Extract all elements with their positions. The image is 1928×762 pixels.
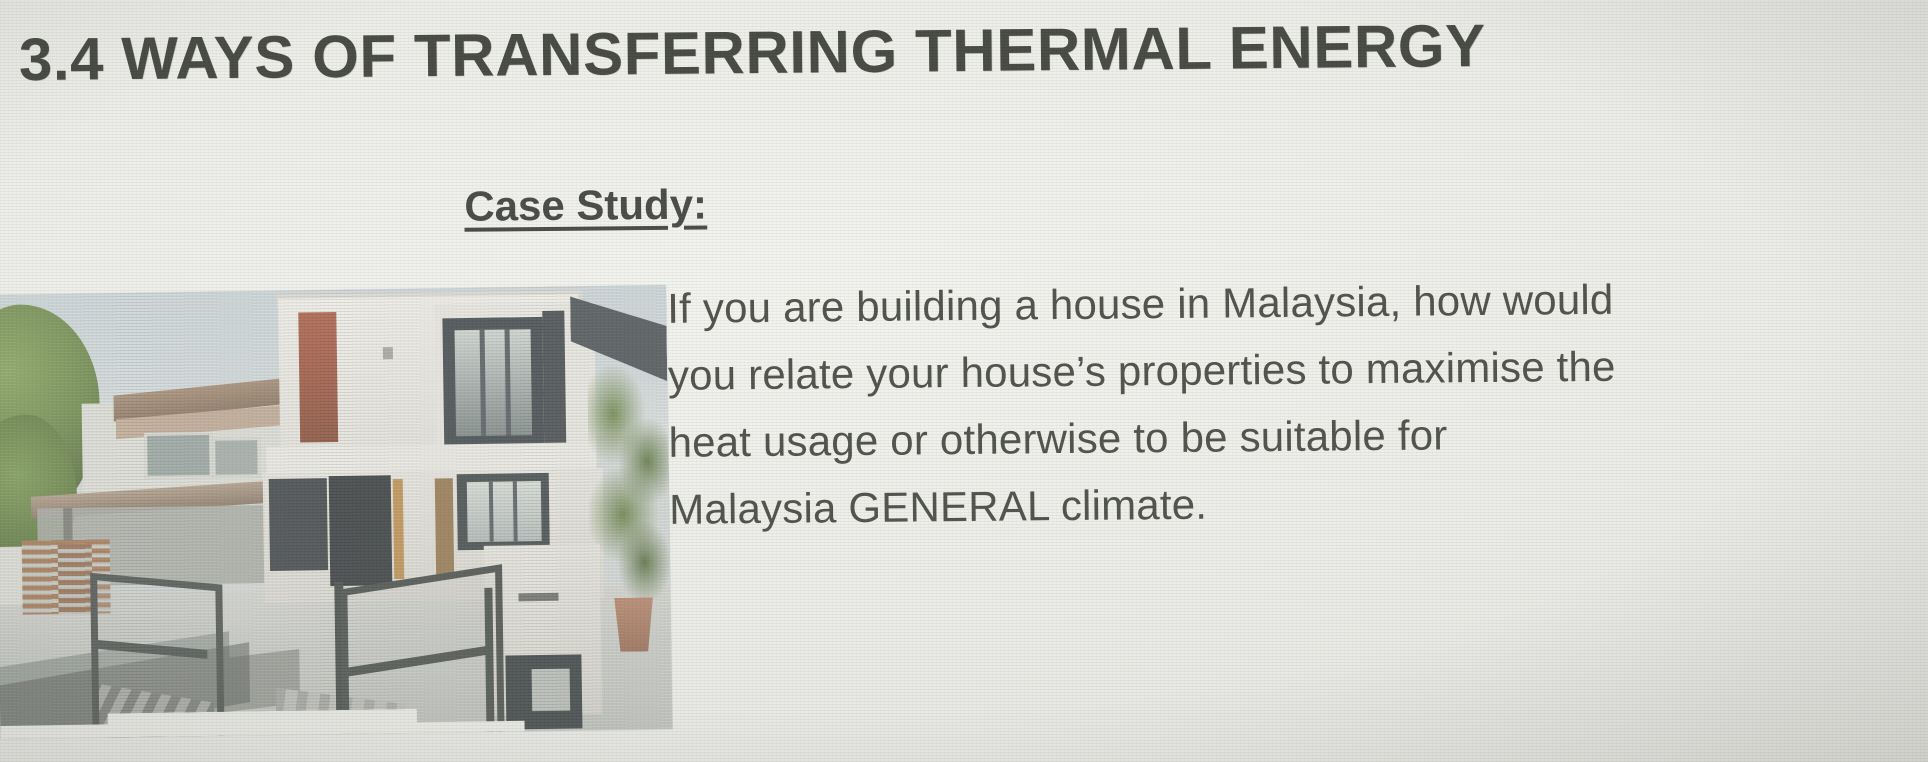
body-line-4: Malaysia GENERAL climate. xyxy=(669,464,1900,543)
neighbour-window xyxy=(144,432,213,479)
door-side-panel xyxy=(393,479,404,579)
body-line-1: If you are building a house in Malaysia,… xyxy=(667,263,1898,342)
mailbox-slot xyxy=(518,593,558,602)
wood-accent-panel xyxy=(298,312,338,443)
lower-window-glass xyxy=(467,481,542,542)
gate-panel-reflection xyxy=(532,669,571,712)
front-door xyxy=(329,475,393,586)
recessed-entry xyxy=(269,478,328,571)
slide-content: 3.4 WAYS OF TRANSFERRING THERMAL ENERGY … xyxy=(0,0,1928,762)
lower-window-mullion-2 xyxy=(513,481,518,541)
body-line-2: you relate your house’s properties to ma… xyxy=(668,330,1899,409)
lower-window-mullion-1 xyxy=(489,482,494,542)
house-photo xyxy=(0,285,672,739)
upper-dark-cladding xyxy=(542,311,566,451)
section-heading-case-study: Case Study: xyxy=(464,180,707,230)
wooden-slat-fence-2 xyxy=(58,544,93,614)
wall-vent xyxy=(383,347,393,359)
lower-window-timber xyxy=(435,478,454,574)
slide-screenshot: 3.4 WAYS OF TRANSFERRING THERMAL ENERGY … xyxy=(0,0,1928,762)
body-line-3: heat usage or otherwise to be suitable f… xyxy=(668,397,1899,476)
upper-window-glass xyxy=(455,329,533,436)
case-study-body: If you are building a house in Malaysia,… xyxy=(667,263,1900,543)
page-title: 3.4 WAYS OF TRANSFERRING THERMAL ENERGY xyxy=(19,7,1880,94)
neighbour-window-2 xyxy=(212,437,261,478)
